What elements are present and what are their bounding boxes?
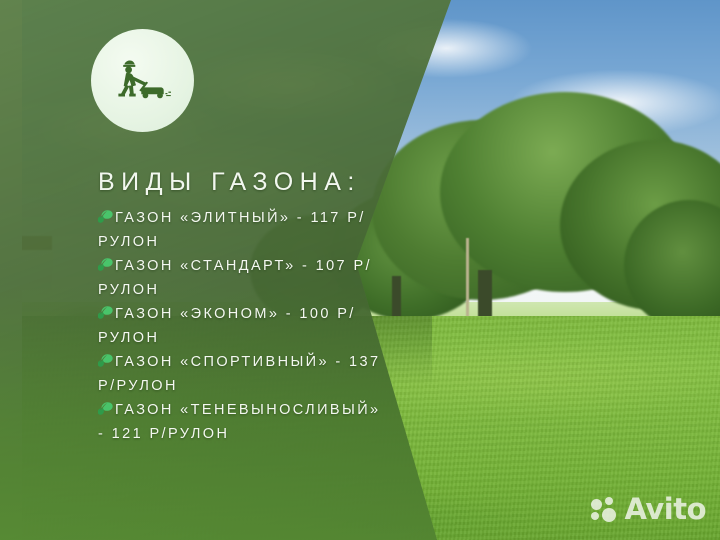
- lawn-types-list: ГАЗОН «ЭЛИТНЫЙ» - 117 Р/РУЛОН ГАЗОН «СТА…: [98, 206, 384, 446]
- lawn-mower-person-icon: [113, 58, 173, 104]
- sapling-trunk: [466, 238, 469, 324]
- avito-wordmark: Avito: [624, 495, 706, 524]
- tree-trunk: [392, 276, 401, 318]
- leaf-icon: [98, 257, 113, 272]
- logo-badge: [91, 29, 194, 132]
- list-item-label: ГАЗОН «СПОРТИВНЫЙ» - 137 Р/РУЛОН: [98, 354, 380, 394]
- page-title: ВИДЫ ГАЗОНА:: [98, 168, 384, 197]
- leaf-icon: [98, 353, 113, 368]
- list-item: ГАЗОН «ТЕНЕВЫНОСЛИВЫЙ» - 121 Р/РУЛОН: [98, 398, 384, 446]
- leaf-icon: [98, 305, 113, 320]
- list-item: ГАЗОН «ЭКОНОМ» - 100 Р/РУЛОН: [98, 302, 384, 350]
- list-item: ГАЗОН «СПОРТИВНЫЙ» - 137 Р/РУЛОН: [98, 350, 384, 398]
- list-item-label: ГАЗОН «СТАНДАРТ» - 107 Р/РУЛОН: [98, 258, 372, 298]
- avito-dots-icon: [591, 497, 617, 523]
- lawn-types-poster: ВИДЫ ГАЗОНА: ГАЗОН «ЭЛИТНЫЙ» - 117 Р/РУЛ…: [0, 0, 720, 540]
- avito-watermark: Avito: [591, 495, 706, 524]
- tree-trunk: [478, 270, 492, 320]
- list-item: ГАЗОН «ЭЛИТНЫЙ» - 117 Р/РУЛОН: [98, 206, 384, 254]
- list-item-label: ГАЗОН «ТЕНЕВЫНОСЛИВЫЙ» - 121 Р/РУЛОН: [98, 402, 380, 442]
- list-item: ГАЗОН «СТАНДАРТ» - 107 Р/РУЛОН: [98, 254, 384, 302]
- leaf-icon: [98, 401, 113, 416]
- text-content: ВИДЫ ГАЗОНА: ГАЗОН «ЭЛИТНЫЙ» - 117 Р/РУЛ…: [98, 168, 384, 446]
- list-item-label: ГАЗОН «ЭКОНОМ» - 100 Р/РУЛОН: [98, 306, 356, 346]
- list-item-label: ГАЗОН «ЭЛИТНЫЙ» - 117 Р/РУЛОН: [98, 210, 366, 250]
- leaf-icon: [98, 209, 113, 224]
